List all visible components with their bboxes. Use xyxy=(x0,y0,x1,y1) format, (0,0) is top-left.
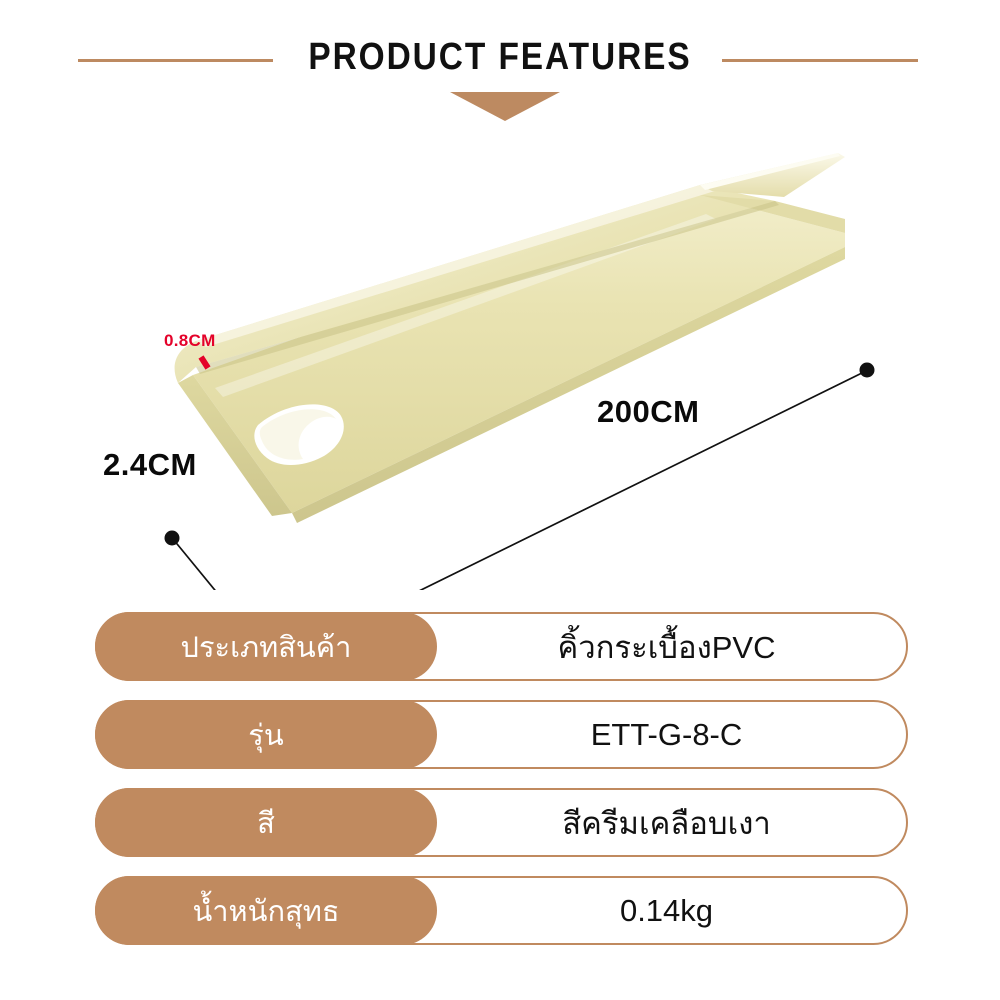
dimension-dot-width-top xyxy=(165,531,180,546)
spec-value-product-type: คิ้วกระเบื้องPVC xyxy=(425,612,908,681)
spec-value-model: ETT-G-8-C xyxy=(425,700,908,769)
spec-label-model: รุ่น xyxy=(95,700,437,769)
specification-table: คิ้วกระเบื้องPVC ประเภทสินค้า ETT-G-8-C … xyxy=(95,612,908,964)
spec-label-product-type: ประเภทสินค้า xyxy=(95,612,437,681)
triangle-down-icon xyxy=(450,92,560,121)
spec-value-net-weight: 0.14kg xyxy=(425,876,908,945)
table-row: 0.14kg น้ำหนักสุทธ xyxy=(95,876,908,945)
table-row: ETT-G-8-C รุ่น xyxy=(95,700,908,769)
dimension-label-thickness: 0.8CM xyxy=(164,331,216,351)
product-illustration xyxy=(0,135,1000,590)
spec-label-net-weight: น้ำหนักสุทธ xyxy=(95,876,437,945)
header-rule-right xyxy=(722,59,918,62)
dimension-label-length: 200CM xyxy=(597,394,699,430)
table-row: คิ้วกระเบื้องPVC ประเภทสินค้า xyxy=(95,612,908,681)
table-row: สีครีมเคลือบเงา สี xyxy=(95,788,908,857)
dimension-label-width: 2.4CM xyxy=(103,447,197,483)
page-header: PRODUCT FEATURES xyxy=(0,0,1000,135)
spec-label-color: สี xyxy=(95,788,437,857)
spec-value-color: สีครีมเคลือบเงา xyxy=(425,788,908,857)
product-image-panel: 200CM 2.4CM 0.8CM xyxy=(0,135,1000,590)
dimension-line-width xyxy=(173,539,264,590)
dimension-dot-length-right xyxy=(860,363,875,378)
page-title: PRODUCT FEATURES xyxy=(60,36,940,79)
